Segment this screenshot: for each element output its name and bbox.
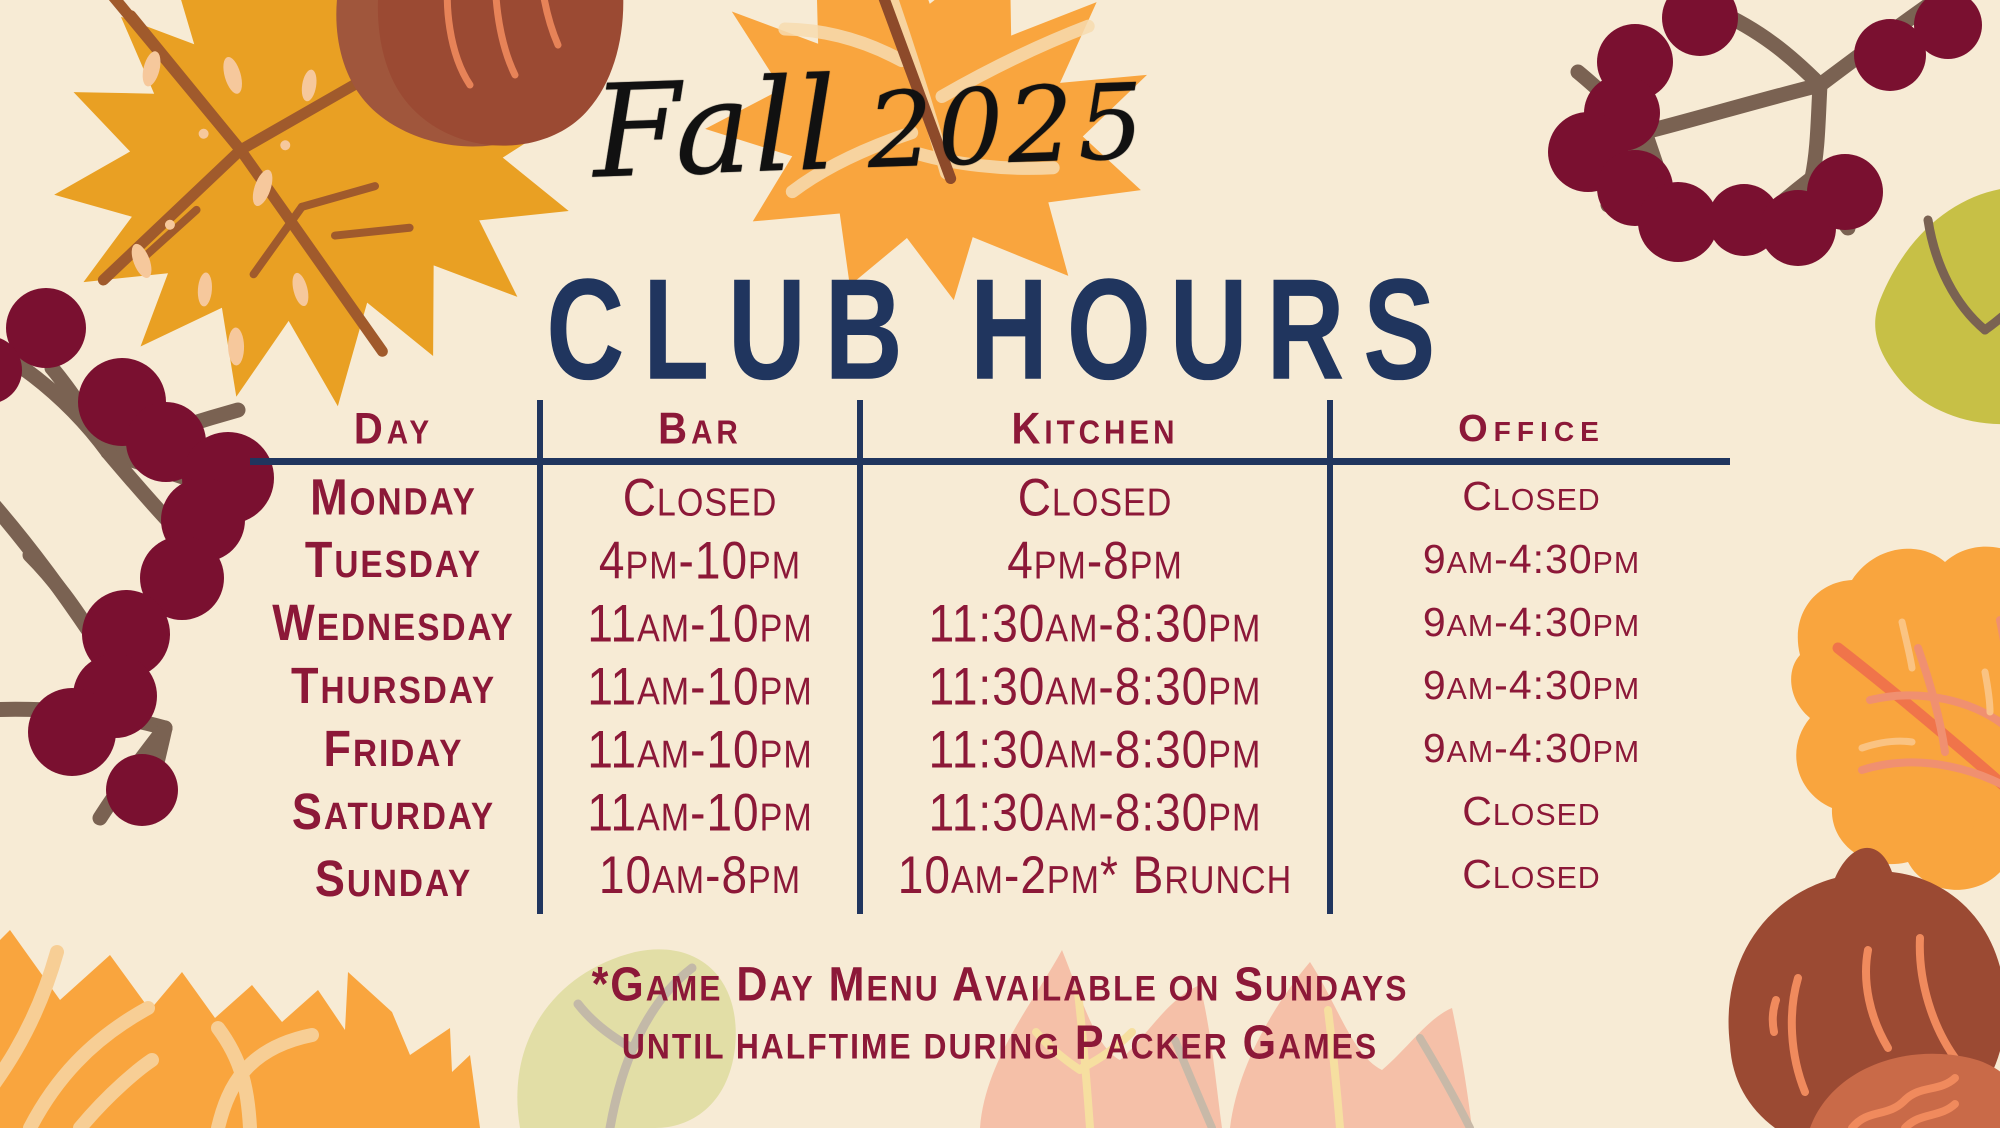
cell-bar: 11AM-10PM <box>540 587 860 659</box>
column-header-office: OFFICE <box>1330 400 1730 462</box>
cell-kitchen: 4PM-8PM <box>860 524 1330 596</box>
cell-bar: 11AM-10PM <box>540 776 860 848</box>
script-title-year: 2025 <box>865 60 1150 192</box>
cell-kitchen: 11:30AM-8:30PM <box>860 776 1330 848</box>
table-header-row: DAY BAR KITCHEN OFFICE <box>250 400 1730 462</box>
table-row: MONDAY CLOSED CLOSED CLOSED <box>250 462 1730 529</box>
cell-kitchen: 11:30AM-8:30PM <box>860 650 1330 722</box>
table-row: FRIDAY 11AM-10PM 11:30AM-8:30PM 9AM-4:30… <box>250 717 1730 780</box>
cell-day: WEDNESDAY <box>250 587 540 659</box>
cell-day: SATURDAY <box>250 776 540 848</box>
cell-kitchen: 10AM-2PM* BRUNCH <box>860 838 1330 919</box>
script-title-season: Fall <box>590 50 841 208</box>
table-row: TUESDAY 4PM-10PM 4PM-8PM 9AM-4:30PM <box>250 528 1730 591</box>
hours-table-body: MONDAY CLOSED CLOSED CLOSED TUESDAY 4PM-… <box>250 462 1730 915</box>
script-title: Fall2025 <box>0 25 1872 223</box>
column-header-kitchen: KITCHEN <box>860 396 1330 465</box>
column-header-bar: BAR <box>540 396 860 465</box>
cell-bar: 10AM-8PM <box>540 838 860 919</box>
page-title: CLUB HOURS <box>80 258 1920 402</box>
poster-content: Fall2025 CLUB HOURS DAY BAR <box>0 0 2000 1128</box>
cell-office: 9AM-4:30PM <box>1330 654 1730 717</box>
cell-day: FRIDAY <box>250 713 540 785</box>
cell-office: CLOSED <box>1330 843 1730 914</box>
cell-bar: 11AM-10PM <box>540 713 860 785</box>
table-row: THURSDAY 11AM-10PM 11:30AM-8:30PM 9AM-4:… <box>250 654 1730 717</box>
cell-kitchen: 11:30AM-8:30PM <box>860 587 1330 659</box>
cell-day: SUNDAY <box>250 838 540 919</box>
footnote-line-1: *GAME DAY MENU AVAILABLE ON SUNDAYS <box>0 956 2000 1015</box>
footnote: *GAME DAY MENU AVAILABLE ON SUNDAYS UNTI… <box>0 956 2000 1073</box>
column-header-day: DAY <box>250 396 540 465</box>
cell-kitchen: 11:30AM-8:30PM <box>860 713 1330 785</box>
cell-bar: 11AM-10PM <box>540 650 860 722</box>
cell-bar: 4PM-10PM <box>540 524 860 596</box>
table-row: SUNDAY 10AM-8PM 10AM-2PM* BRUNCH CLOSED <box>250 843 1730 914</box>
cell-day: MONDAY <box>250 457 540 533</box>
cell-day: THURSDAY <box>250 650 540 722</box>
cell-office: 9AM-4:30PM <box>1330 717 1730 780</box>
cell-office: 9AM-4:30PM <box>1330 528 1730 591</box>
table-row: WEDNESDAY 11AM-10PM 11:30AM-8:30PM 9AM-4… <box>250 591 1730 654</box>
cell-office: CLOSED <box>1330 462 1730 529</box>
table-row: SATURDAY 11AM-10PM 11:30AM-8:30PM CLOSED <box>250 780 1730 843</box>
hours-table: DAY BAR KITCHEN OFFICE <box>250 400 1730 914</box>
cell-office: 9AM-4:30PM <box>1330 591 1730 654</box>
cell-day: TUESDAY <box>250 524 540 596</box>
hours-table-head: DAY BAR KITCHEN OFFICE <box>250 400 1730 462</box>
cell-kitchen: CLOSED <box>860 457 1330 533</box>
poster-canvas: Fall2025 CLUB HOURS DAY BAR <box>0 0 2000 1128</box>
footnote-line-2: UNTIL HALFTIME DURING PACKER GAMES <box>0 1014 2000 1073</box>
cell-bar: CLOSED <box>540 457 860 533</box>
cell-office: CLOSED <box>1330 780 1730 843</box>
hours-table-wrapper: DAY BAR KITCHEN OFFICE <box>250 400 1730 914</box>
